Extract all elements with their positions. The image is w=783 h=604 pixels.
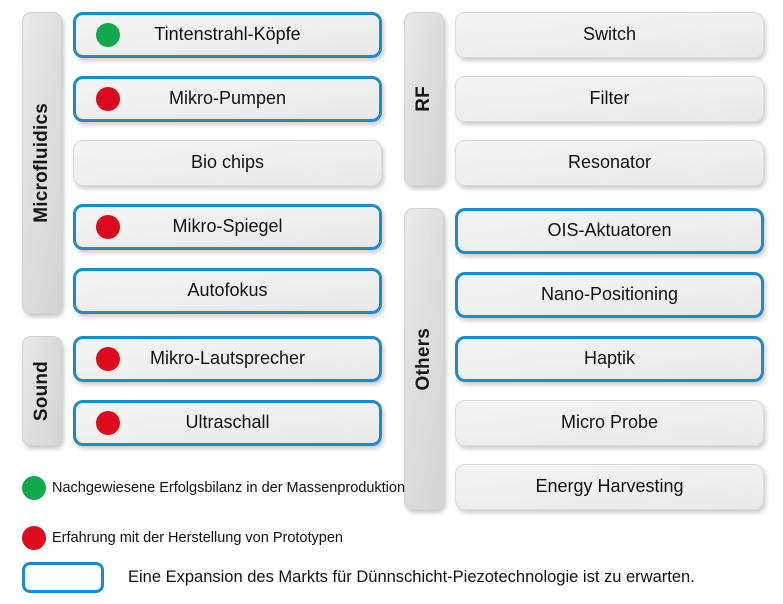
application-item-label: Mikro-Spiegel: [172, 217, 282, 237]
category-group: RFSwitchFilterResonator: [404, 12, 764, 186]
red-dot-icon: [96, 87, 120, 111]
footnote: Eine Expansion des Markts für Dünnschich…: [22, 562, 767, 593]
category-group: OthersOIS-AktuatorenNano-PositioningHapt…: [404, 208, 764, 510]
application-item[interactable]: Nano-Positioning: [455, 272, 764, 318]
category-group: SoundMikro-LautsprecherUltraschall: [22, 336, 382, 446]
green-dot-icon: [22, 476, 46, 500]
right-column: RFSwitchFilterResonatorOthersOIS-Aktuato…: [404, 12, 764, 522]
application-item[interactable]: Bio chips: [73, 140, 382, 186]
application-item-label: Mikro-Lautsprecher: [150, 349, 305, 369]
application-item[interactable]: Energy Harvesting: [455, 464, 764, 510]
category-label: Others: [413, 328, 435, 390]
application-item-label: Resonator: [568, 153, 651, 173]
application-item-label: Filter: [590, 89, 630, 109]
application-item[interactable]: Ultraschall: [73, 400, 382, 446]
legend-row: Erfahrung mit der Herstellung von Protot…: [22, 520, 452, 556]
legend-label: Nachgewiesene Erfolgsbilanz in der Masse…: [52, 480, 405, 496]
blue-outlined-box-icon: [22, 562, 104, 593]
application-item-label: Bio chips: [191, 153, 264, 173]
category-bar-sound[interactable]: Sound: [22, 336, 62, 446]
application-item[interactable]: Mikro-Pumpen: [73, 76, 382, 122]
green-dot-icon: [96, 23, 120, 47]
category-items: Tintenstrahl-KöpfeMikro-PumpenBio chipsM…: [73, 12, 382, 314]
category-items: SwitchFilterResonator: [455, 12, 764, 186]
category-label: RF: [413, 86, 435, 112]
application-item[interactable]: Switch: [455, 12, 764, 58]
application-item[interactable]: Micro Probe: [455, 400, 764, 446]
category-bar-others[interactable]: Others: [404, 208, 444, 510]
piezo-technology-application-diagram: MicrofluidicsTintenstrahl-KöpfeMikro-Pum…: [0, 0, 783, 604]
legend-row: Nachgewiesene Erfolgsbilanz in der Masse…: [22, 470, 452, 506]
category-label: Microfluidics: [31, 103, 53, 223]
application-item-label: Energy Harvesting: [535, 477, 683, 497]
application-item-label: Haptik: [584, 349, 635, 369]
footnote-text: Eine Expansion des Markts für Dünnschich…: [128, 568, 695, 587]
red-dot-icon: [96, 347, 120, 371]
application-item-label: Mikro-Pumpen: [169, 89, 286, 109]
application-item[interactable]: Mikro-Lautsprecher: [73, 336, 382, 382]
application-item[interactable]: OIS-Aktuatoren: [455, 208, 764, 254]
application-item[interactable]: Tintenstrahl-Köpfe: [73, 12, 382, 58]
application-item-label: Autofokus: [187, 281, 267, 301]
category-bar-rf[interactable]: RF: [404, 12, 444, 186]
application-item[interactable]: Resonator: [455, 140, 764, 186]
legend: Nachgewiesene Erfolgsbilanz in der Masse…: [22, 470, 452, 556]
application-item[interactable]: Haptik: [455, 336, 764, 382]
legend-label: Erfahrung mit der Herstellung von Protot…: [52, 530, 343, 546]
application-item[interactable]: Filter: [455, 76, 764, 122]
application-item-label: Nano-Positioning: [541, 285, 678, 305]
left-column: MicrofluidicsTintenstrahl-KöpfeMikro-Pum…: [22, 12, 382, 458]
application-item-label: Ultraschall: [185, 413, 269, 433]
application-item-label: Switch: [583, 25, 636, 45]
application-item-label: OIS-Aktuatoren: [547, 221, 671, 241]
application-item[interactable]: Autofokus: [73, 268, 382, 314]
category-group: MicrofluidicsTintenstrahl-KöpfeMikro-Pum…: [22, 12, 382, 314]
red-dot-icon: [22, 526, 46, 550]
category-items: Mikro-LautsprecherUltraschall: [73, 336, 382, 446]
category-items: OIS-AktuatorenNano-PositioningHaptikMicr…: [455, 208, 764, 510]
application-item-label: Micro Probe: [561, 413, 658, 433]
red-dot-icon: [96, 411, 120, 435]
application-item-label: Tintenstrahl-Köpfe: [154, 25, 300, 45]
application-item[interactable]: Mikro-Spiegel: [73, 204, 382, 250]
red-dot-icon: [96, 215, 120, 239]
category-bar-microfluidics[interactable]: Microfluidics: [22, 12, 62, 314]
category-label: Sound: [31, 361, 53, 421]
